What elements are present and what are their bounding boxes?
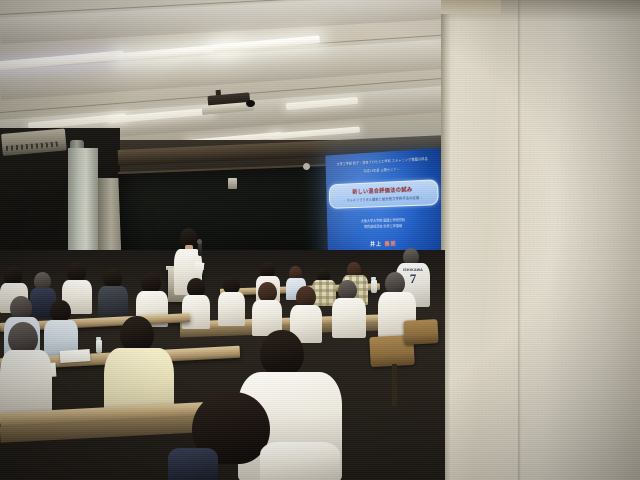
slide-title-box: 新しい混合評価法の試み - マルチフラクタル解析と統計熱力学的手法の応用 - — [329, 179, 438, 209]
slide-affiliation: 大阪大学大学院 基礎工学研究科 物質創成専攻 化学工学領域 — [331, 216, 437, 232]
water-bottle-cap — [96, 337, 101, 340]
chair-leg — [392, 364, 397, 406]
handout-paper — [60, 349, 91, 363]
water-bottle — [96, 340, 102, 353]
chair — [403, 319, 438, 345]
presenter-surname: 井上 — [370, 242, 382, 248]
torso — [182, 295, 210, 329]
head — [141, 272, 161, 293]
pillar-soffit — [441, 0, 501, 14]
wall-speaker-icon — [228, 178, 237, 189]
shoulder-left — [168, 448, 218, 480]
head — [50, 300, 71, 322]
slide-presenter-name: 井上 義朗 — [370, 240, 397, 248]
wall-knob-icon — [303, 163, 310, 170]
microphone-head-icon — [197, 239, 202, 244]
head — [385, 272, 405, 294]
head — [67, 262, 86, 282]
water-bottle — [371, 280, 377, 293]
torso — [332, 298, 366, 338]
head — [296, 286, 316, 307]
head — [258, 282, 277, 302]
pillar-corner — [518, 0, 521, 480]
slide-subtitle: - マルチフラクタル解析と統計熱力学的手法の応用 - — [344, 195, 422, 203]
head — [120, 316, 154, 352]
head — [260, 330, 304, 376]
water-bottle-cap — [371, 277, 376, 280]
pillar-texture — [441, 0, 640, 480]
slide-affiliation-line-2: 物質創成専攻 化学工学領域 — [331, 222, 437, 231]
lecture-hall-photo: 大学工学部 粒子・流体プロセス工学科 スキャニング電顕分科会 平成14年度 公開… — [0, 0, 640, 480]
head — [103, 268, 122, 288]
slide-header: 大学工学部 粒子・流体プロセス工学科 スキャニング電顕分科会 平成14年度 公開… — [330, 155, 436, 176]
slide-title: 新しい混合評価法の試み — [352, 185, 412, 195]
shoulder-right — [260, 442, 340, 480]
microphone — [198, 242, 202, 256]
presenter-givenname: 義朗 — [385, 242, 397, 248]
head — [10, 296, 32, 319]
torso — [218, 292, 245, 326]
head — [338, 280, 357, 300]
